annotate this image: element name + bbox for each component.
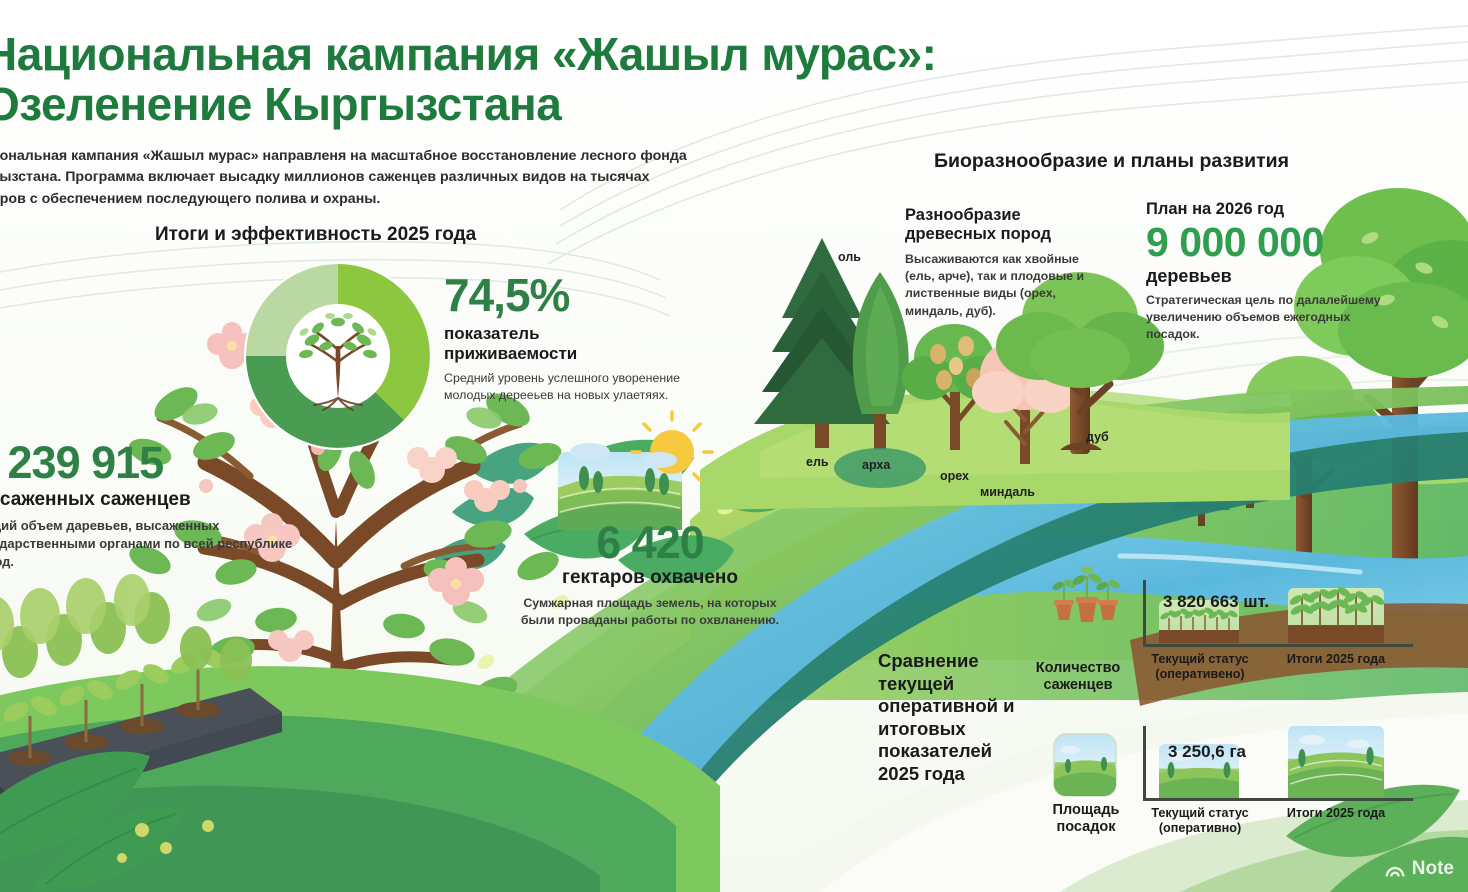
comparison-heading: Сравнение текущей оперативной и итоговых… xyxy=(878,650,1028,785)
intro-paragraph: Национальная кампания «Жашыл мурас» напр… xyxy=(0,146,704,210)
species-label-dub: дуб xyxy=(1086,430,1109,444)
watermark-text: Note xyxy=(1412,858,1454,880)
species-label-oreh: орех xyxy=(940,469,969,483)
species-label-arha: арха xyxy=(862,458,890,472)
chart-1-category-results: Итоги 2025 года xyxy=(1286,652,1386,667)
landscape-icon xyxy=(1054,734,1116,796)
chart-2-y-axis xyxy=(1143,726,1146,800)
hectares-desc: Сумжарная площадь земель, на которых был… xyxy=(520,595,780,630)
comparison-chart-1-label: Количество саженцев xyxy=(1028,660,1128,694)
seedlings-value: 8 239 915 xyxy=(0,440,302,485)
chart-1-value-label: 3 820 663 шт. xyxy=(1163,592,1269,612)
plan-2026-value: 9 000 000 xyxy=(1146,222,1406,263)
hectares-value: 6 420 xyxy=(520,520,780,565)
species-desc: Высаживаются как хвойные (ель, арче), та… xyxy=(905,251,1101,320)
plan-2026-desc: Стратегическая цель по далалейшему увели… xyxy=(1146,292,1406,344)
stat-seedlings-planted: 8 239 915 высаженных саженцев Общий объе… xyxy=(0,440,302,572)
species-label-el: ель xyxy=(806,455,829,469)
species-label-mindal: миндаль xyxy=(980,485,1035,499)
comparison-chart-2-label: Площадь посадок xyxy=(1040,802,1132,836)
species-label-ol: оль xyxy=(838,250,861,264)
page-title: Национальная кампания «Жашыл мурас»: Озе… xyxy=(0,30,1104,129)
seedlings-label: высаженных саженцев xyxy=(0,489,302,511)
stat-hectares-covered: 6 420 гектаров охвачено Сумжарная площад… xyxy=(520,520,780,630)
section-heading-results: Итоги и эффективность 2025 года xyxy=(155,224,476,246)
rainbow-arc-icon xyxy=(1384,858,1406,880)
stat-plan-2026: План на 2026 год 9 000 000 деревьев Стра… xyxy=(1146,200,1406,344)
survival-rate-value: 74,5% xyxy=(444,272,694,318)
survival-rate-desc: Средний уровень услешного уворенение мол… xyxy=(444,370,694,405)
chart-1-x-axis xyxy=(1143,644,1413,647)
stat-survival-rate: 74,5% показатель приживаемости Средний у… xyxy=(444,272,694,405)
section-heading-biodiversity: Биоразнообразие и планы развития xyxy=(934,150,1289,173)
chart-2-category-results: Итоги 2025 года xyxy=(1286,806,1386,821)
watermark: Note xyxy=(1384,858,1454,880)
title-line-1: Национальная кампания «Жашыл мурас»: xyxy=(0,28,937,80)
plan-2026-label: План на 2026 год xyxy=(1146,200,1406,219)
seedlings-desc: Общий объем даревьев, высаженных государ… xyxy=(0,517,302,572)
chart-2-x-axis xyxy=(1143,798,1413,801)
plan-2026-unit: деревьев xyxy=(1146,266,1406,287)
hectares-label: гектаров охвачено xyxy=(520,567,780,589)
stat-species-diversity: Разнообразие древесных пород Высаживаютс… xyxy=(905,206,1101,320)
species-label: Разнообразие древесных пород xyxy=(905,206,1101,244)
chart-2-value-label: 3 250,6 га xyxy=(1168,742,1246,762)
chart-2-category-current: Текущий статус (оперативно) xyxy=(1150,806,1250,836)
survival-rate-label: показатель приживаемости xyxy=(444,324,694,365)
chart-1-category-current: Текущий статус (оперативено) xyxy=(1150,652,1250,682)
title-line-2: Озеленение Кыргызстана xyxy=(0,80,1104,130)
chart-1-y-axis xyxy=(1143,580,1146,646)
